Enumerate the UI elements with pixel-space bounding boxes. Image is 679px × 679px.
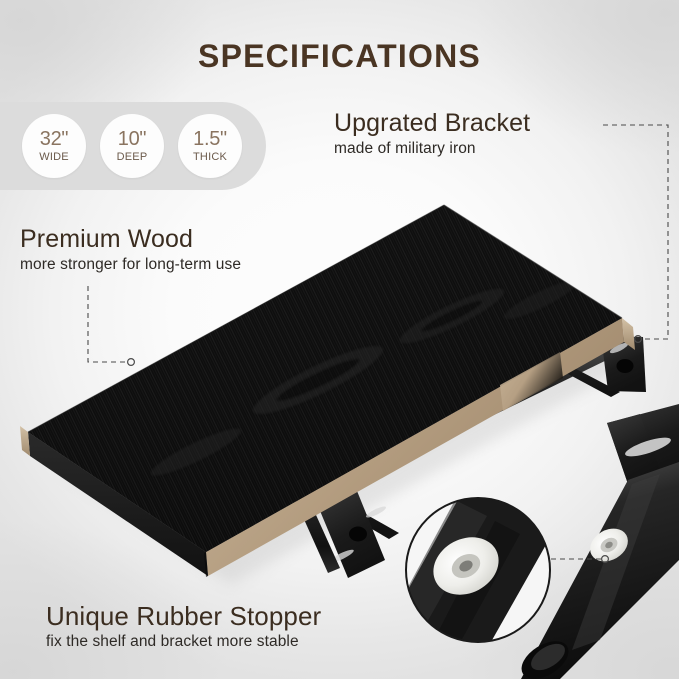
callout-wood: Premium Wood more stronger for long-term… (20, 226, 241, 275)
callout-wood-subtext: more stronger for long-term use (20, 256, 241, 275)
badge-thickness-label: THICK (193, 152, 227, 163)
badge-depth-label: DEEP (117, 152, 148, 163)
infographic-canvas: SPECIFICATIONS 32" WIDE 10" DEEP 1.5" TH… (0, 0, 679, 679)
callout-bracket-subtext: made of military iron (334, 140, 530, 159)
badge-thickness-value: 1.5" (193, 129, 227, 149)
spec-badge-panel: 32" WIDE 10" DEEP 1.5" THICK (0, 102, 266, 190)
callout-stopper: Unique Rubber Stopper fix the shelf and … (46, 602, 321, 652)
callout-bracket-heading: Upgrated Bracket (334, 110, 530, 137)
badge-depth-value: 10" (118, 129, 146, 149)
badge-width: 32" WIDE (22, 114, 86, 178)
badge-width-value: 32" (40, 129, 68, 149)
badge-thickness: 1.5" THICK (178, 114, 242, 178)
callout-wood-heading: Premium Wood (20, 226, 241, 253)
rubber-stopper-zoom-inset (372, 478, 560, 679)
badge-depth: 10" DEEP (100, 114, 164, 178)
callout-stopper-heading: Unique Rubber Stopper (46, 602, 321, 630)
badge-width-label: WIDE (39, 152, 69, 163)
callout-bracket: Upgrated Bracket made of military iron (334, 110, 530, 159)
page-title: SPECIFICATIONS (0, 38, 679, 75)
callout-stopper-subtext: fix the shelf and bracket more stable (46, 633, 321, 652)
